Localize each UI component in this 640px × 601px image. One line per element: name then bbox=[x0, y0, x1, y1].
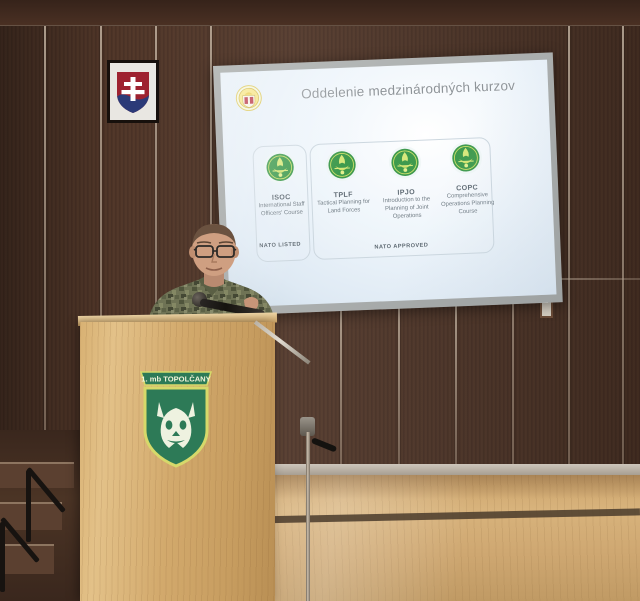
slovak-coat-of-arms bbox=[107, 60, 159, 123]
military-academy-emblem-icon bbox=[369, 144, 441, 186]
academy-seal-logo bbox=[235, 84, 263, 112]
course-card-copc: COPC Comprehensive Operations Planning C… bbox=[433, 140, 500, 218]
photo-scene: Oddelenie medzinárodných kurzov bbox=[0, 0, 640, 601]
coat-of-arms-mat bbox=[110, 63, 156, 120]
rail-post bbox=[0, 522, 5, 592]
crest-banner-text: 1. mb TOPOLČANY bbox=[141, 375, 210, 384]
wall-seam bbox=[340, 300, 342, 470]
wall-seam bbox=[568, 26, 570, 470]
course-card-tplf: TPLF Tactical Planning for Land Forces bbox=[311, 147, 374, 217]
microphone-stand-pole[interactable] bbox=[306, 432, 310, 601]
military-academy-emblem-icon bbox=[249, 149, 311, 190]
military-academy-emblem-icon bbox=[311, 147, 373, 188]
rail-post bbox=[26, 470, 31, 542]
course-description: Tactical Planning for Land Forces bbox=[314, 199, 375, 217]
course-card-isoc: ISOC International Staff Officers' Cours… bbox=[249, 149, 312, 219]
wall-seam bbox=[398, 295, 400, 470]
wall-seam bbox=[455, 290, 457, 470]
slovak-shield-icon bbox=[115, 70, 151, 114]
wall-seam bbox=[44, 26, 46, 470]
military-academy-emblem-icon bbox=[433, 140, 499, 182]
unit-crest: 1. mb TOPOLČANY bbox=[137, 368, 215, 472]
wall-seam bbox=[622, 26, 624, 470]
course-description: Introduction to the Planning of Joint Op… bbox=[371, 196, 442, 222]
course-description: International Staff Officers' Course bbox=[252, 201, 313, 219]
course-description: Comprehensive Operations Planning Course bbox=[435, 192, 500, 218]
course-card-ipjo: IPJO Introduction to the Planning of Joi… bbox=[369, 144, 442, 222]
slide-title: Oddelenie medzinárodných kurzov bbox=[273, 76, 543, 104]
wall-top-band bbox=[0, 0, 640, 26]
